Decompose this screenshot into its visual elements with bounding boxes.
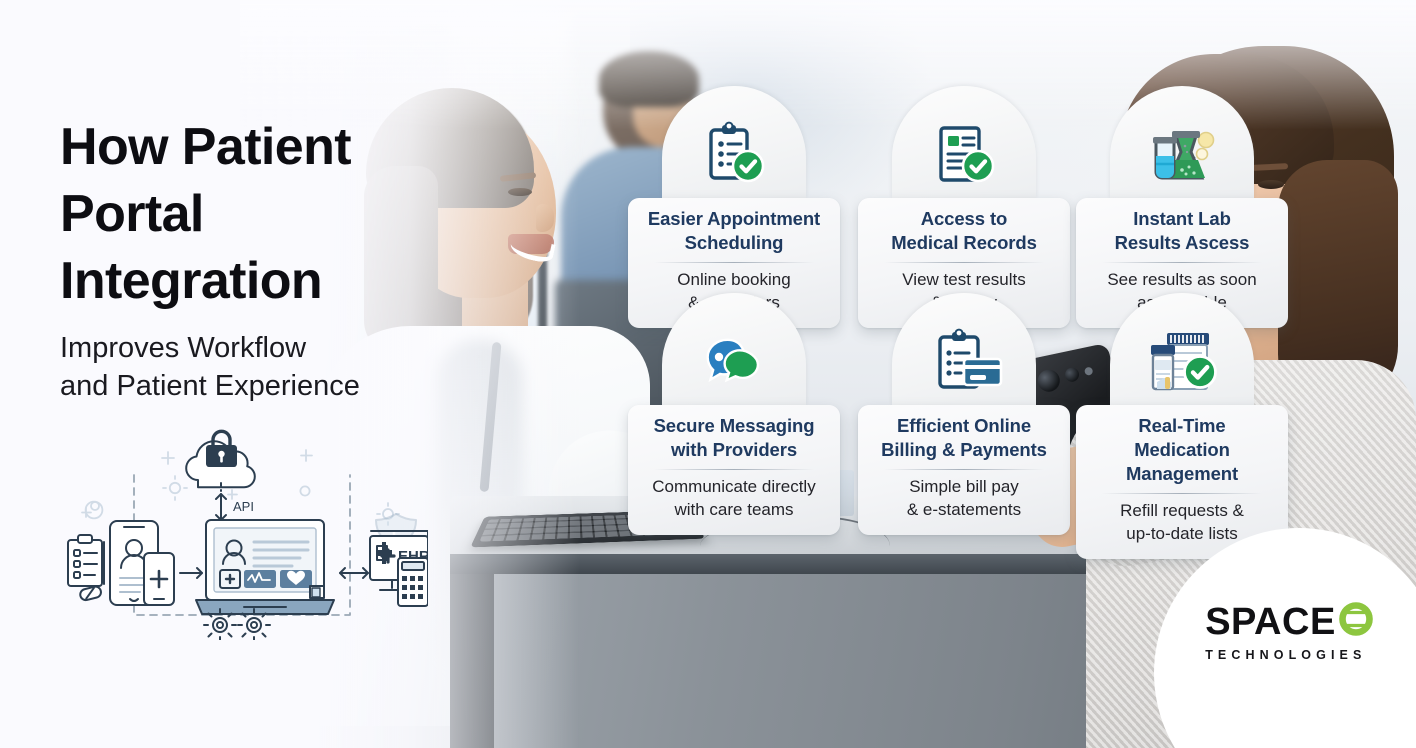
- slashed-o-icon: [1337, 600, 1375, 643]
- card-desc-line-1: Refill requests &: [1120, 501, 1244, 520]
- headline-block: How Patient Portal Integration Improves …: [60, 114, 440, 405]
- clipboard-check-icon: [697, 120, 771, 194]
- card-title-line-1: Instant Lab: [1133, 208, 1231, 229]
- card-desc-line-2: & e-statements: [907, 500, 1021, 519]
- feature-card-lab-results[interactable]: Instant Lab Results Ascess See results a…: [1076, 86, 1288, 328]
- card-divider: [884, 262, 1044, 263]
- lab-flask-icon: [1142, 120, 1222, 194]
- feature-card-secure-messaging[interactable]: Secure Messaging with Providers Communic…: [628, 293, 840, 535]
- card-desc-line-1: View test results: [902, 270, 1025, 289]
- laptop-dashboard-icon: [196, 520, 334, 614]
- feature-card-grid: Easier Appointment Scheduling Online boo…: [628, 86, 1300, 526]
- card-title-line-2: Billing & Payments: [881, 439, 1047, 460]
- feature-card-medication-management[interactable]: Real-Time Medication Management Refill r…: [1076, 293, 1288, 559]
- card-title-line-2: Scheduling: [685, 232, 784, 253]
- card-icon-dome: [892, 293, 1036, 405]
- card-description: Simple bill pay & e-statements: [868, 476, 1060, 521]
- card-icon-dome: [1110, 86, 1254, 198]
- card-divider: [654, 262, 814, 263]
- medical-record-check-icon: [927, 120, 1001, 194]
- feature-card-billing-payments[interactable]: Efficient Online Billing & Payments Simp…: [858, 293, 1070, 535]
- flow-arrow-right-1: [180, 568, 202, 578]
- card-icon-dome: [662, 293, 806, 405]
- card-divider: [1102, 493, 1262, 494]
- feature-card-appointment-scheduling[interactable]: Easier Appointment Scheduling Online boo…: [628, 86, 840, 328]
- card-body: Secure Messaging with Providers Communic…: [628, 405, 840, 535]
- calculator-icon: [398, 558, 428, 606]
- card-title: Instant Lab Results Ascess: [1086, 207, 1278, 255]
- card-title-line-2: Medication: [1134, 439, 1230, 460]
- mobile-plus-icon: [144, 553, 174, 605]
- card-icon-dome: [892, 86, 1036, 198]
- card-title: Efficient Online Billing & Payments: [868, 414, 1060, 462]
- card-divider: [1102, 262, 1262, 263]
- subtitle-line-2: and Patient Experience: [60, 370, 360, 402]
- title-line-1: How Patient: [60, 118, 351, 176]
- api-label: API: [233, 499, 254, 514]
- clipboard-pill-icon: [68, 535, 102, 601]
- card-title-line-1: Secure Messaging: [654, 415, 815, 436]
- card-title-line-1: Efficient Online: [897, 415, 1031, 436]
- logo-wordmark: SPACE: [1205, 603, 1336, 641]
- logo-tagline: TECHNOLOGIES: [1205, 648, 1375, 662]
- card-title-line-1: Easier Appointment: [648, 208, 820, 229]
- card-description: Communicate directly with care teams: [638, 476, 830, 521]
- card-title-line-2: with Providers: [671, 439, 797, 460]
- billing-card-icon: [924, 327, 1004, 401]
- page-subtitle: Improves Workflow and Patient Experience: [60, 329, 440, 405]
- card-title-line-2: Results Ascess: [1115, 232, 1250, 253]
- cloud-lock-icon: [186, 431, 255, 487]
- feature-card-medical-records[interactable]: Access to Medical Records View test resu…: [858, 86, 1070, 328]
- infographic-canvas: How Patient Portal Integration Improves …: [0, 0, 1416, 748]
- card-desc-line-1: Online booking: [677, 270, 790, 289]
- title-line-2: Portal: [60, 185, 204, 243]
- card-body: Efficient Online Billing & Payments Simp…: [858, 405, 1070, 535]
- card-desc-line-1: Simple bill pay: [909, 477, 1019, 496]
- card-title: Secure Messaging with Providers: [638, 414, 830, 462]
- card-title: Access to Medical Records: [868, 207, 1060, 255]
- card-desc-line-1: Communicate directly: [652, 477, 815, 496]
- title-line-3: Integration: [60, 252, 322, 310]
- integration-flow-diagram: API: [58, 428, 428, 640]
- medication-bottle-check-icon: [1141, 327, 1223, 401]
- card-title-line-2: Medical Records: [891, 232, 1037, 253]
- card-title-line-3: Management: [1126, 463, 1238, 484]
- chat-bubbles-icon: [694, 327, 774, 401]
- card-title: Real-Time Medication Management: [1086, 414, 1278, 486]
- card-divider: [884, 469, 1044, 470]
- card-icon-dome: [662, 86, 806, 198]
- card-title: Easier Appointment Scheduling: [638, 207, 830, 255]
- api-connector-arrow: [216, 483, 226, 520]
- card-desc-line-2: with care teams: [674, 500, 793, 519]
- card-desc-line-2: up-to-date lists: [1126, 524, 1238, 543]
- subtitle-line-1: Improves Workflow: [60, 332, 306, 364]
- card-title-line-1: Access to: [921, 208, 1008, 229]
- card-icon-dome: [1110, 293, 1254, 405]
- card-divider: [654, 469, 814, 470]
- card-desc-line-1: See results as soon: [1107, 270, 1256, 289]
- page-title: How Patient Portal Integration: [60, 114, 440, 315]
- card-title-line-1: Real-Time: [1138, 415, 1225, 436]
- flow-arrow-bidirectional: [340, 568, 368, 578]
